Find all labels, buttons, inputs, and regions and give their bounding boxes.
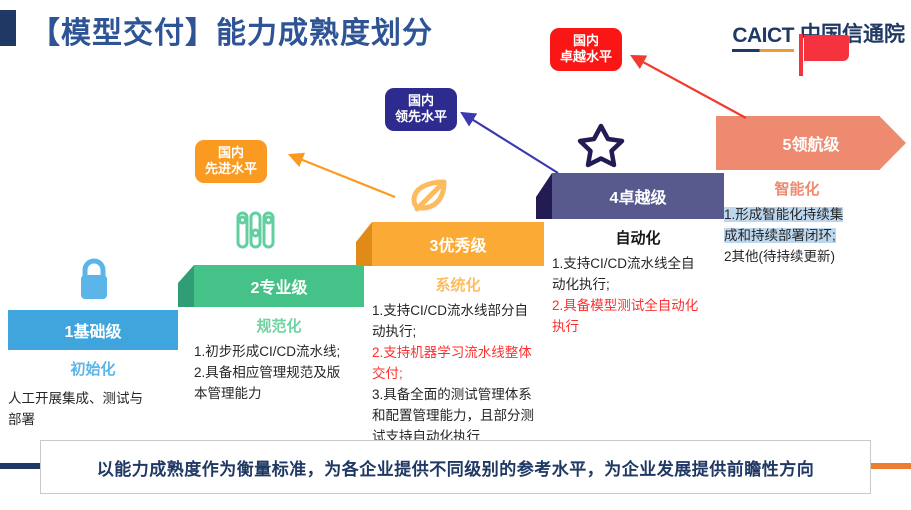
badge-leading-level[interactable]: 国内 领先水平 <box>385 88 457 131</box>
level-2-subtitle: 规范化 <box>194 315 364 336</box>
level-1-title: 1基础级 <box>65 318 122 342</box>
level-5-line-highlight: 1.形成智能化持续集 <box>724 207 843 222</box>
level-3-line: 3.具备全面的测试管理体系 <box>372 385 544 406</box>
badge-line-2: 先进水平 <box>205 161 257 177</box>
level-4-line-highlight: 执行 <box>552 317 724 338</box>
level-3-line: 和配置管理能力，且部分测 <box>372 406 544 427</box>
level-4-title: 4卓越级 <box>610 184 667 208</box>
level-1-line: 部署 <box>8 410 178 431</box>
level-2-block[interactable]: 2专业级 规范化 1.初步形成CI/CD流水线; 2.具备相应管理规范及版 本管… <box>194 265 364 405</box>
level-3-block[interactable]: 3优秀级 系统化 1.支持CI/CD流水线部分自 动执行; 2.支持机器学习流水… <box>372 222 544 447</box>
level-1-body: 人工开展集成、测试与 部署 <box>8 389 178 431</box>
level-3-line: 1.支持CI/CD流水线部分自 <box>372 301 544 322</box>
badge-line-1: 国内 <box>205 145 257 161</box>
level-5-line-highlight: 成和持续部署闭环; <box>724 228 836 243</box>
level-4-line: 动化执行; <box>552 275 724 296</box>
badge-line-2: 卓越水平 <box>560 49 612 65</box>
level-2-line: 1.初步形成CI/CD流水线; <box>194 342 364 363</box>
badge-arrow-orange <box>270 135 410 245</box>
badge-advanced-level[interactable]: 国内 先进水平 <box>195 140 267 183</box>
level-4-subtitle: 自动化 <box>552 227 724 248</box>
level-5-title: 5领航级 <box>783 131 840 155</box>
level-4-line-highlight: 2.具备模型测试全自动化 <box>552 296 724 317</box>
level-4-line: 1.支持CI/CD流水线全自 <box>552 254 724 275</box>
page-title: 【模型交付】能力成熟度划分 <box>30 8 433 52</box>
badge-line-2: 领先水平 <box>395 109 447 125</box>
level-2-bar: 2专业级 <box>194 265 364 307</box>
leaf-icon <box>408 176 450 223</box>
bottom-banner-area: 以能力成熟度作为衡量标准，为各企业提供不同级别的参考水平，为企业发展提供前瞻性方… <box>0 440 911 492</box>
level-3-line: 动执行; <box>372 322 544 343</box>
level-4-body: 1.支持CI/CD流水线全自 动化执行; 2.具备模型测试全自动化 执行 <box>552 254 724 338</box>
level-5-block[interactable]: 5领航级 智能化 1.形成智能化持续集 成和持续部署闭环; 2其他(待持续更新) <box>716 116 906 268</box>
level-2-title: 2专业级 <box>251 274 308 298</box>
level-2-line: 本管理能力 <box>194 384 364 405</box>
summary-banner: 以能力成熟度作为衡量标准，为各企业提供不同级别的参考水平，为企业发展提供前瞻性方… <box>40 440 871 494</box>
level-1-subtitle: 初始化 <box>8 358 178 379</box>
badge-line-1: 国内 <box>560 33 612 49</box>
slide-canvas: 【模型交付】能力成熟度划分 CAICT 中国信通院 <box>0 0 911 510</box>
badge-arrow-red <box>618 36 768 136</box>
level-5-body: 1.形成智能化持续集 成和持续部署闭环; 2其他(待持续更新) <box>724 205 906 268</box>
banner-line-right <box>865 463 911 469</box>
level-1-line: 人工开展集成、测试与 <box>8 389 178 410</box>
level-3-title: 3优秀级 <box>430 232 487 256</box>
level-3-line-highlight: 2.支持机器学习流水线整体 <box>372 343 544 364</box>
badge-excellent-level[interactable]: 国内 卓越水平 <box>550 28 622 71</box>
level-3-body: 1.支持CI/CD流水线部分自 动执行; 2.支持机器学习流水线整体 交付; 3… <box>372 301 544 447</box>
level-2-body: 1.初步形成CI/CD流水线; 2.具备相应管理规范及版 本管理能力 <box>194 342 364 405</box>
level-2-side-face <box>178 265 194 307</box>
badge-arrow-blue <box>448 95 578 195</box>
level-5-subtitle: 智能化 <box>716 178 878 199</box>
lock-icon <box>73 256 115 307</box>
badge-line-1: 国内 <box>395 93 447 109</box>
summary-banner-text: 以能力成熟度作为衡量标准，为各企业提供不同级别的参考水平，为企业发展提供前瞻性方… <box>97 455 815 480</box>
level-3-subtitle: 系统化 <box>372 274 544 295</box>
level-1-block[interactable]: 1基础级 初始化 人工开展集成、测试与 部署 <box>8 310 178 431</box>
level-1-bar: 1基础级 <box>8 310 178 350</box>
flag-icon <box>799 34 851 76</box>
level-5-line: 2其他(待持续更新) <box>724 247 906 268</box>
level-3-line-highlight: 交付; <box>372 364 544 385</box>
title-accent-bar <box>0 10 16 46</box>
level-2-line: 2.具备相应管理规范及版 <box>194 363 364 384</box>
level-4-block[interactable]: 4卓越级 自动化 1.支持CI/CD流水线全自 动化执行; 2.具备模型测试全自… <box>552 173 724 338</box>
